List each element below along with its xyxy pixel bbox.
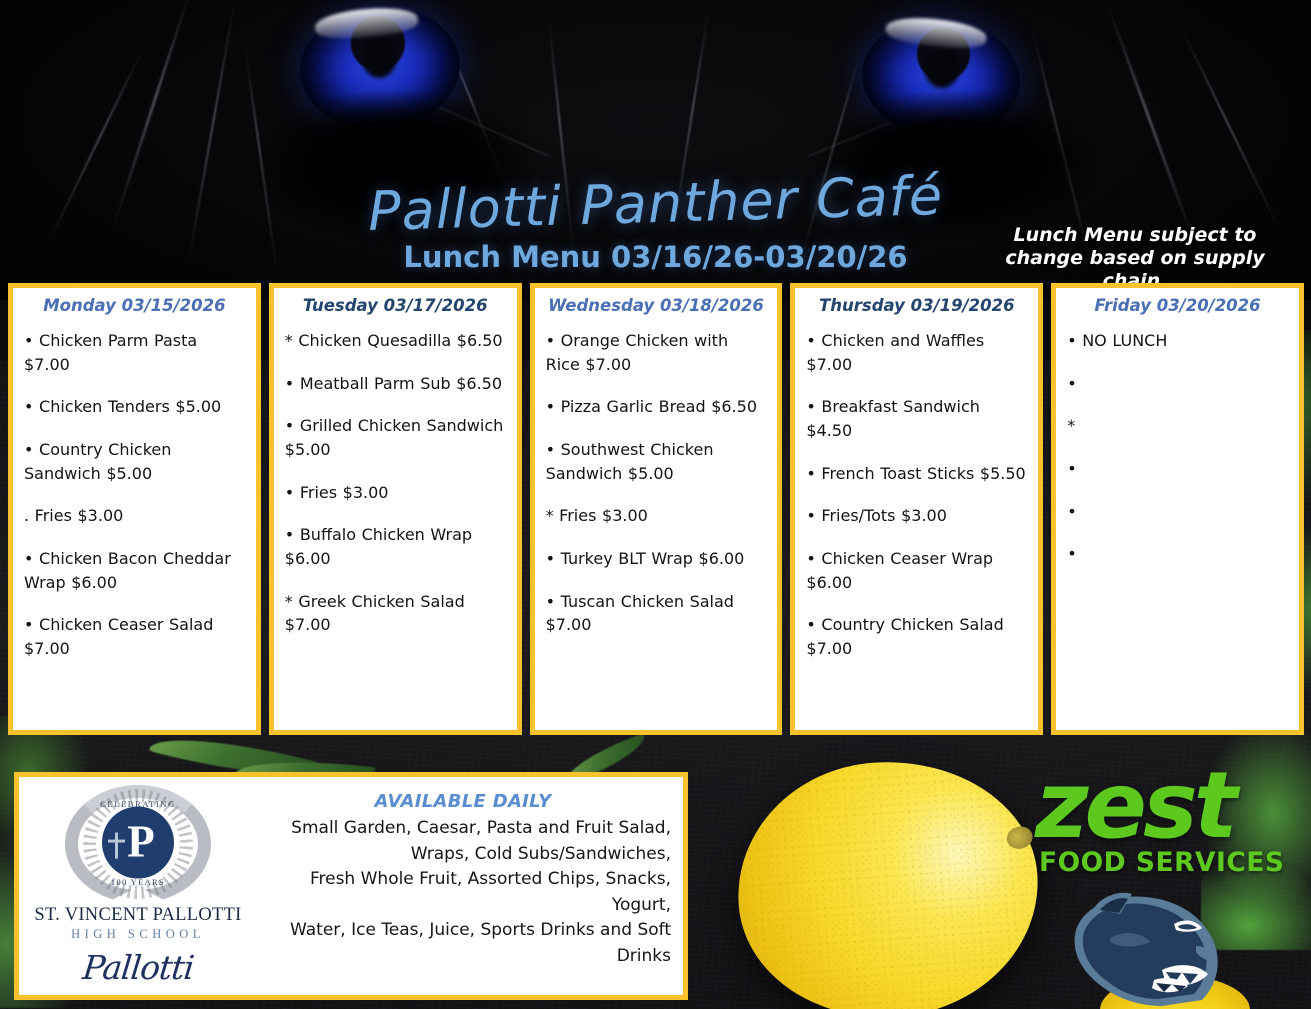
vendor-logo: zest FOOD SERVICES bbox=[1035, 768, 1303, 878]
footer-panel: CELEBRATING 100 YEARS P ST. VINCENT PALL… bbox=[14, 772, 688, 1000]
menu-item: • bbox=[1067, 542, 1288, 566]
vendor-name: zest bbox=[1035, 768, 1303, 843]
menu-item: • bbox=[1067, 500, 1288, 524]
menu-item: * Greek Chicken Salad $7.00 bbox=[285, 590, 506, 637]
menu-item: • Pizza Garlic Bread $6.50 bbox=[546, 395, 767, 419]
available-daily-line: Fresh Whole Fruit, Assorted Chips, Snack… bbox=[255, 867, 671, 918]
crest-letter: P bbox=[127, 819, 155, 864]
menu-item: • French Toast Sticks $5.50 bbox=[806, 462, 1027, 486]
school-subtitle: HIGH SCHOOL bbox=[71, 927, 205, 942]
menu-item: • bbox=[1067, 372, 1288, 396]
available-daily-title: AVAILABLE DAILY bbox=[255, 791, 671, 812]
day-header-thursday: Thursday 03/19/2026 bbox=[806, 296, 1027, 315]
menu-item: • Chicken Ceaser Salad $7.00 bbox=[24, 613, 245, 660]
cross-icon bbox=[115, 833, 118, 859]
menu-item: • Chicken Ceaser Wrap $6.00 bbox=[806, 547, 1027, 594]
menu-item: • Meatball Parm Sub $6.50 bbox=[285, 372, 506, 396]
weekly-menu-grid: Monday 03/15/2026 • Chicken Parm Pasta $… bbox=[8, 283, 1304, 735]
menu-item: • Fries $3.00 bbox=[285, 481, 506, 505]
panther-mascot-icon bbox=[1050, 888, 1260, 1009]
school-crest-icon: CELEBRATING 100 YEARS P bbox=[65, 785, 211, 903]
day-card-friday: Friday 03/20/2026 • NO LUNCH • * • • • bbox=[1051, 283, 1304, 735]
day-card-thursday: Thursday 03/19/2026 • Chicken and Waffle… bbox=[790, 283, 1043, 735]
menu-item: * Fries $3.00 bbox=[546, 504, 767, 528]
menu-item: • Chicken Tenders $5.00 bbox=[24, 395, 245, 419]
day-card-wednesday: Wednesday 03/18/2026 • Orange Chicken wi… bbox=[530, 283, 783, 735]
menu-item: . Fries $3.00 bbox=[24, 504, 245, 528]
available-daily-line: Small Garden, Caesar, Pasta and Fruit Sa… bbox=[255, 816, 671, 842]
vendor-tagline: FOOD SERVICES bbox=[1039, 847, 1303, 878]
menu-item: * bbox=[1067, 414, 1288, 438]
menu-item: • Chicken Parm Pasta $7.00 bbox=[24, 329, 245, 376]
available-daily-line: Water, Ice Teas, Juice, Sports Drinks an… bbox=[255, 918, 671, 969]
menu-item: • Orange Chicken with Rice $7.00 bbox=[546, 329, 767, 376]
menu-item: • Southwest Chicken Sandwich $5.00 bbox=[546, 438, 767, 485]
menu-item: • Chicken Bacon Cheddar Wrap $6.00 bbox=[24, 547, 245, 594]
menu-item: • Fries/Tots $3.00 bbox=[806, 504, 1027, 528]
menu-item: • NO LUNCH bbox=[1067, 329, 1288, 353]
crest-medallion: P bbox=[102, 807, 174, 879]
menu-item: • Tuscan Chicken Salad $7.00 bbox=[546, 590, 767, 637]
day-header-friday: Friday 03/20/2026 bbox=[1067, 296, 1288, 315]
day-header-tuesday: Tuesday 03/17/2026 bbox=[285, 296, 506, 315]
menu-item: • Country Chicken Salad $7.00 bbox=[806, 613, 1027, 660]
day-card-monday: Monday 03/15/2026 • Chicken Parm Pasta $… bbox=[8, 283, 261, 735]
menu-item: • bbox=[1067, 457, 1288, 481]
school-signature: Pallotti bbox=[81, 948, 196, 987]
day-header-wednesday: Wednesday 03/18/2026 bbox=[546, 296, 767, 315]
menu-item: • Breakfast Sandwich $4.50 bbox=[806, 395, 1027, 442]
school-logo: CELEBRATING 100 YEARS P ST. VINCENT PALL… bbox=[19, 777, 251, 987]
day-header-monday: Monday 03/15/2026 bbox=[24, 296, 245, 315]
school-name: ST. VINCENT PALLOTTI bbox=[34, 905, 241, 926]
menu-item: • Chicken and Waffles $7.00 bbox=[806, 329, 1027, 376]
available-daily-section: AVAILABLE DAILY Small Garden, Caesar, Pa… bbox=[251, 777, 683, 969]
available-daily-line: Wraps, Cold Subs/Sandwiches, bbox=[255, 842, 671, 868]
menu-item: • Country Chicken Sandwich $5.00 bbox=[24, 438, 245, 485]
day-card-tuesday: Tuesday 03/17/2026 * Chicken Quesadilla … bbox=[269, 283, 522, 735]
menu-item: • Turkey BLT Wrap $6.00 bbox=[546, 547, 767, 571]
menu-item: • Buffalo Chicken Wrap $6.00 bbox=[285, 523, 506, 570]
menu-item: * Chicken Quesadilla $6.50 bbox=[285, 329, 506, 353]
menu-item: • Grilled Chicken Sandwich $5.00 bbox=[285, 414, 506, 461]
